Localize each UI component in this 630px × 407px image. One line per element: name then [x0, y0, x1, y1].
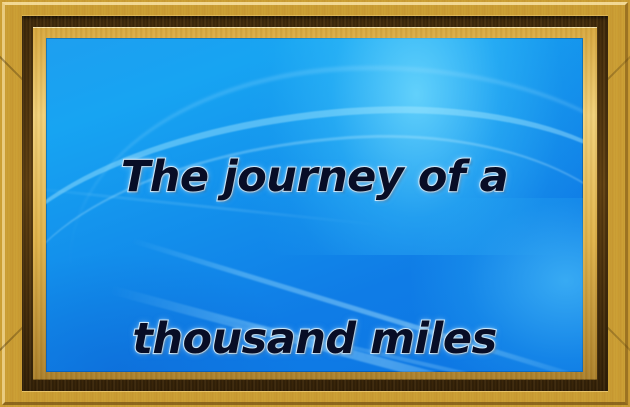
quote-line-2: thousand miles [46, 312, 583, 366]
background-glow-top [250, 38, 583, 255]
background-swoosh-main [46, 79, 583, 304]
poster-canvas: The journey of a thousand miles begins w… [46, 38, 583, 372]
background-light-streak-three [207, 312, 583, 372]
background-light-streak-mid [46, 185, 388, 227]
quote-line-1: The journey of a [46, 150, 583, 204]
quote-text-block: The journey of a thousand miles begins w… [46, 42, 583, 372]
background-shadow-bottom-left [46, 252, 304, 372]
background-swoosh-secondary [46, 116, 583, 337]
background-light-streak-one [131, 238, 583, 372]
background-swoosh-upper [64, 54, 583, 281]
background-light-streak-two [109, 285, 583, 372]
background-glow-right [411, 198, 583, 372]
framed-quote-image: The journey of a thousand miles begins w… [0, 0, 630, 407]
